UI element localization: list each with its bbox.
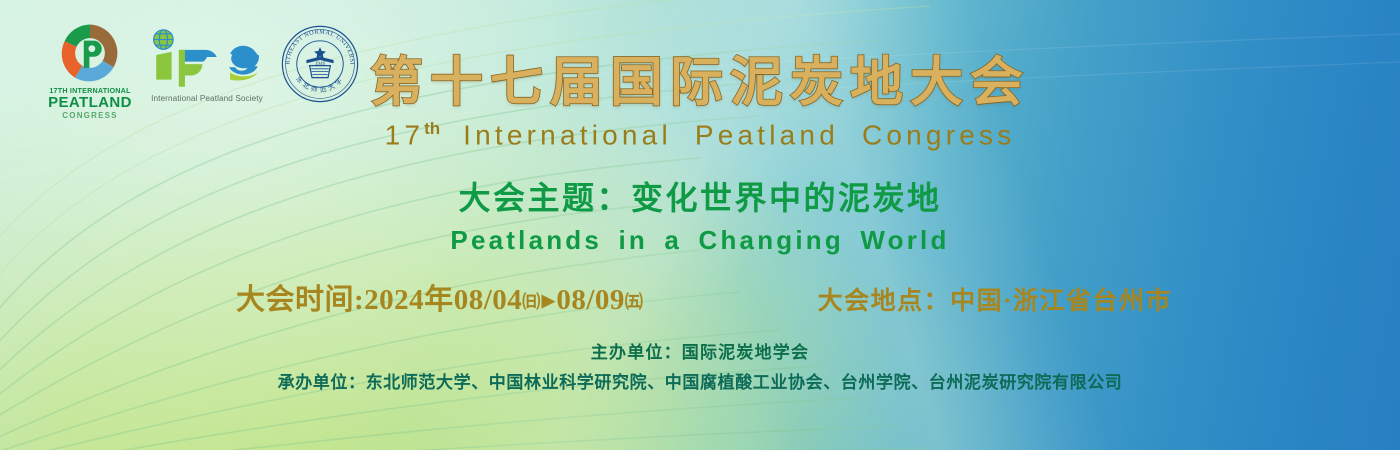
date-end: 08/09 [556, 284, 625, 316]
date-start: 08/04 [454, 284, 523, 316]
title-ordinal: 17 [385, 119, 425, 150]
date-label: 大会时间: [236, 284, 364, 316]
title-english: 17th International Peatland Congress [0, 119, 1400, 151]
theme-english: Peatlands in a Changing World [0, 225, 1400, 256]
place-label: 大会地点： [818, 288, 951, 315]
congress-place: 大会地点：中国·浙江省台州市 [818, 281, 1172, 317]
date-arrow-icon: ▶ [541, 291, 557, 310]
title-english-rest: International Peatland Congress [463, 119, 1015, 150]
congress-banner: 17TH INTERNATIONAL PEATLAND CONGRESS [0, 0, 1400, 450]
host-organization: 主办单位：国际泥炭地学会 [0, 338, 1400, 363]
headline-block: 第十七届国际泥炭地大会 17th International Peatland … [0, 52, 1400, 256]
title-ordinal-suffix: th [424, 119, 440, 138]
date-start-weekday: ㈰ [522, 292, 541, 312]
date-end-weekday: ㈤ [625, 292, 644, 312]
title-chinese: 第十七届国际泥炭地大会 [0, 52, 1400, 115]
info-row: 大会时间:2024年08/04㈰▶08/09㈤ 大会地点：中国·浙江省台州市 [0, 276, 1400, 318]
congress-date: 大会时间:2024年08/04㈰▶08/09㈤ [236, 276, 643, 318]
theme-chinese: 大会主题：变化世界中的泥炭地 [0, 173, 1400, 219]
place-value: 中国·浙江省台州市 [950, 288, 1172, 315]
date-year: 2024年 [364, 284, 454, 316]
co-host-organizations: 承办单位：东北师范大学、中国林业科学研究院、中国腐植酸工业协会、台州学院、台州泥… [0, 368, 1400, 393]
